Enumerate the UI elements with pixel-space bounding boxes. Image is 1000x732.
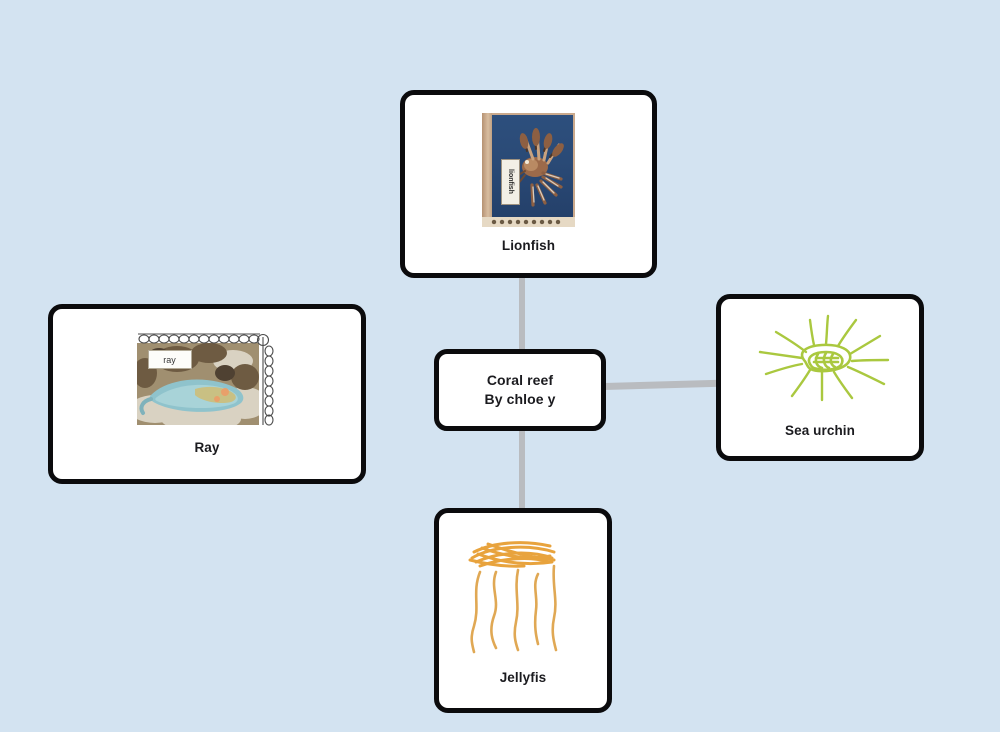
ray-photo: ray bbox=[135, 330, 280, 427]
lionfish-photo-frame-bottom bbox=[482, 217, 575, 227]
ray-name-tag-text: ray bbox=[163, 355, 176, 365]
lionfish-media-wrap: lionfish bbox=[482, 113, 575, 237]
connector-center-to-sea-urchin bbox=[604, 380, 720, 390]
node-center-label: Coral reef By chloe y bbox=[484, 371, 555, 409]
node-sea-urchin[interactable]: Sea urchin bbox=[716, 294, 924, 461]
jellyfish-drawing bbox=[458, 534, 588, 659]
sea-urchin-drawing bbox=[734, 314, 906, 416]
lionfish-name-tag: lionfish bbox=[501, 159, 520, 205]
node-lionfish[interactable]: lionfish Lionfish bbox=[400, 90, 657, 278]
lionfish-name-tag-text: lionfish bbox=[507, 169, 514, 194]
node-jellyfish[interactable]: Jellyfis bbox=[434, 508, 612, 713]
node-sea-urchin-label: Sea urchin bbox=[785, 422, 855, 440]
ray-photo-chain-border-doodle bbox=[135, 330, 280, 427]
lionfish-photo: lionfish bbox=[482, 113, 575, 227]
jellyfish-media-wrap bbox=[458, 534, 588, 669]
ray-name-tag: ray bbox=[148, 350, 192, 369]
lionfish-photo-frame-left bbox=[482, 113, 492, 227]
sea-urchin-media-wrap bbox=[734, 314, 906, 422]
node-jellyfish-label: Jellyfis bbox=[500, 669, 547, 687]
node-center-coral-reef[interactable]: Coral reef By chloe y bbox=[434, 349, 606, 431]
node-lionfish-label: Lionfish bbox=[502, 237, 555, 255]
ray-media-wrap: ray bbox=[135, 330, 280, 439]
connector-center-to-lionfish bbox=[519, 268, 525, 352]
node-ray-label: Ray bbox=[194, 439, 219, 457]
connector-center-to-jellyfish bbox=[519, 430, 525, 512]
node-ray[interactable]: ray Ray bbox=[48, 304, 366, 484]
mindmap-canvas: lionfish Lionfish bbox=[0, 0, 1000, 732]
